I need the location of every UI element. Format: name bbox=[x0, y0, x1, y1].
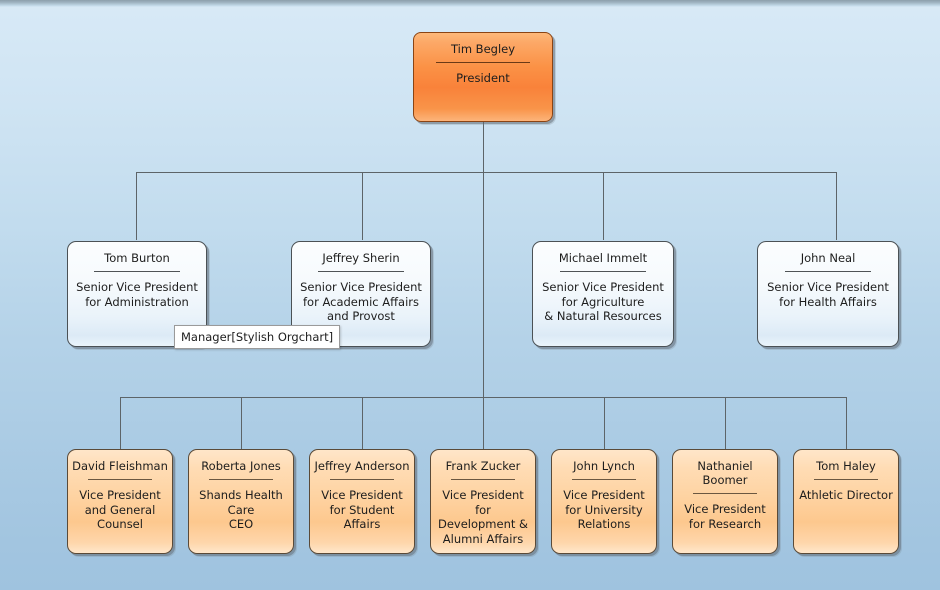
org-node-title: Shands Health Care CEO bbox=[189, 480, 293, 532]
org-node-title: Senior Vice President for Administration bbox=[68, 272, 206, 309]
connector-drop-level2-1 bbox=[136, 172, 137, 240]
connector-drop-level3-5 bbox=[604, 397, 605, 449]
connector-trunk-root bbox=[483, 121, 484, 397]
node-tooltip: Manager[Stylish Orgchart] bbox=[174, 325, 340, 349]
top-edge-band bbox=[0, 0, 940, 7]
connector-drop-level2-2 bbox=[362, 172, 363, 240]
org-node-nathaniel-boomer[interactable]: Nathaniel Boomer Vice President for Rese… bbox=[672, 449, 778, 554]
org-node-title: Vice President and General Counsel bbox=[68, 480, 172, 532]
connector-bar-level2 bbox=[136, 172, 836, 173]
org-node-title: Vice President for Student Affairs bbox=[310, 480, 414, 532]
org-node-title: Senior Vice President for Academic Affai… bbox=[292, 272, 430, 324]
org-node-name: Tim Begley bbox=[414, 33, 552, 56]
org-node-name: Jeffrey Sherin bbox=[292, 242, 430, 265]
org-node-name: Roberta Jones bbox=[189, 450, 293, 473]
org-node-name: Jeffrey Anderson bbox=[310, 450, 414, 473]
org-node-title: President bbox=[414, 63, 552, 86]
org-node-john-neal[interactable]: John Neal Senior Vice President for Heal… bbox=[757, 241, 899, 347]
org-node-name: Michael Immelt bbox=[533, 242, 673, 265]
connector-drop-level3-7 bbox=[846, 397, 847, 449]
org-node-jeffrey-anderson[interactable]: Jeffrey Anderson Vice President for Stud… bbox=[309, 449, 415, 554]
org-node-name: Frank Zucker bbox=[431, 450, 535, 473]
org-node-title: Vice President for Research bbox=[673, 494, 777, 531]
org-node-john-lynch[interactable]: John Lynch Vice President for University… bbox=[551, 449, 657, 554]
org-node-title: Senior Vice President for Health Affairs bbox=[758, 272, 898, 309]
org-node-michael-immelt[interactable]: Michael Immelt Senior Vice President for… bbox=[532, 241, 674, 347]
org-node-title: Athletic Director bbox=[794, 480, 898, 503]
org-node-tom-haley[interactable]: Tom Haley Athletic Director bbox=[793, 449, 899, 554]
org-node-name: John Lynch bbox=[552, 450, 656, 473]
org-node-name: David Fleishman bbox=[68, 450, 172, 473]
connector-drop-level3-6 bbox=[725, 397, 726, 449]
connector-drop-level2-3 bbox=[603, 172, 604, 240]
org-node-title: Senior Vice President for Agriculture & … bbox=[533, 272, 673, 324]
org-node-title: Vice President for Development & Alumni … bbox=[431, 480, 535, 546]
connector-drop-level3-3 bbox=[362, 397, 363, 449]
org-node-name: John Neal bbox=[758, 242, 898, 265]
org-node-frank-zucker[interactable]: Frank Zucker Vice President for Developm… bbox=[430, 449, 536, 554]
org-node-name: Tom Haley bbox=[794, 450, 898, 473]
org-node-david-fleishman[interactable]: David Fleishman Vice President and Gener… bbox=[67, 449, 173, 554]
org-node-name: Tom Burton bbox=[68, 242, 206, 265]
connector-drop-level3-4 bbox=[483, 397, 484, 449]
orgchart-canvas: Tim Begley President Tom Burton Senior V… bbox=[0, 0, 940, 590]
org-node-title: Vice President for University Relations bbox=[552, 480, 656, 532]
connector-drop-level3-1 bbox=[120, 397, 121, 449]
connector-drop-level3-2 bbox=[241, 397, 242, 449]
org-node-name: Nathaniel Boomer bbox=[673, 450, 777, 487]
org-node-root[interactable]: Tim Begley President bbox=[413, 32, 553, 122]
connector-drop-level2-4 bbox=[836, 172, 837, 240]
org-node-roberta-jones[interactable]: Roberta Jones Shands Health Care CEO bbox=[188, 449, 294, 554]
